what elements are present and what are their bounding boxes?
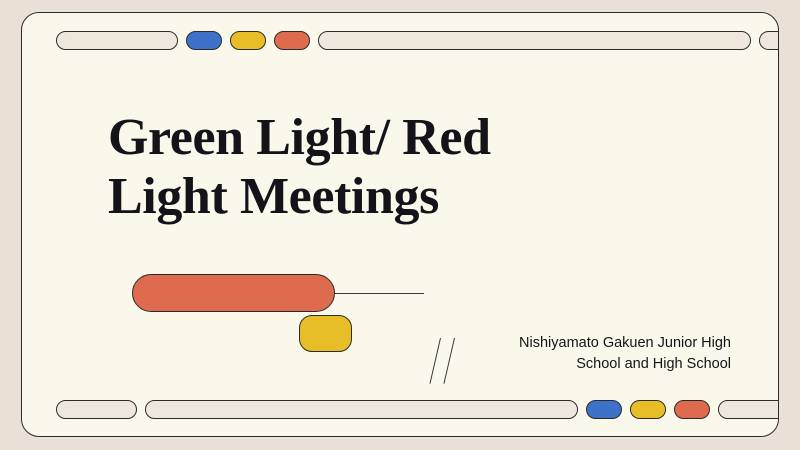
slash-stroke-1 xyxy=(429,338,441,384)
top-decoration-bar xyxy=(22,27,778,53)
title-line-1: Green Light/ Red xyxy=(108,109,491,166)
slide-card: Green Light/ Red Light Meetings Nishiyam… xyxy=(21,12,779,437)
title-block: Green Light/ Red Light Meetings xyxy=(108,108,528,227)
rounded-square-yellow-shape xyxy=(299,315,352,352)
pill-blue xyxy=(186,31,222,50)
title-line-2: Light Meetings xyxy=(108,168,439,225)
pill-neutral-2 xyxy=(318,31,751,50)
pill-red xyxy=(274,31,310,50)
pill-yellow xyxy=(230,31,266,50)
rounded-bar-red-shape xyxy=(132,274,335,312)
pill-neutral-1 xyxy=(56,31,178,50)
pill-neutral-1 xyxy=(56,400,137,419)
pill-neutral-3 xyxy=(759,31,779,50)
pill-neutral-3 xyxy=(718,400,779,419)
subtitle-line-2: School and High School xyxy=(576,356,731,372)
bottom-decoration-bar xyxy=(22,396,778,422)
pill-red xyxy=(674,400,710,419)
subtitle: Nishiyamato Gakuen Junior High School an… xyxy=(461,333,731,375)
subtitle-line-1: Nishiyamato Gakuen Junior High xyxy=(519,335,731,351)
page-title: Green Light/ Red Light Meetings xyxy=(108,108,528,227)
pill-blue xyxy=(586,400,622,419)
pill-yellow xyxy=(630,400,666,419)
slash-stroke-2 xyxy=(443,338,455,384)
connector-line-shape xyxy=(334,293,424,294)
pill-neutral-2 xyxy=(145,400,578,419)
